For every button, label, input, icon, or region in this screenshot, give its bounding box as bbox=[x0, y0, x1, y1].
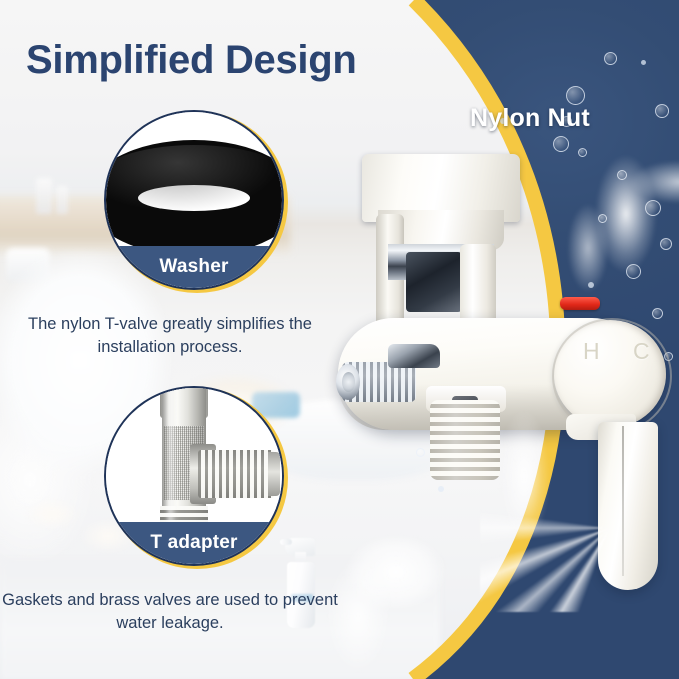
counter-bottle-2 bbox=[56, 186, 68, 214]
page-title: Simplified Design bbox=[26, 38, 357, 83]
adapter-side-thread bbox=[198, 450, 274, 498]
counter-bottle-1 bbox=[36, 178, 52, 214]
infographic-canvas: H C Simplified Design Nylon Nut Washer T… bbox=[0, 0, 679, 679]
adapter-side-tip bbox=[268, 452, 280, 496]
washer-caption: The nylon T-valve greatly simplifies the… bbox=[0, 313, 340, 359]
washer-label-banner: Washer bbox=[106, 246, 282, 288]
t-adapter-label: T adapter bbox=[150, 532, 237, 554]
o-ring-washer-icon bbox=[106, 140, 282, 256]
t-adapter-label-banner: T adapter bbox=[106, 522, 282, 564]
t-adapter-caption: Gaskets and brass valves are used to pre… bbox=[0, 589, 340, 635]
feature-card-t-adapter: T adapter bbox=[106, 388, 282, 564]
feature-card-washer: Washer bbox=[106, 112, 282, 288]
nylon-nut-callout-label: Nylon Nut bbox=[470, 104, 590, 133]
washer-label: Washer bbox=[159, 256, 228, 278]
